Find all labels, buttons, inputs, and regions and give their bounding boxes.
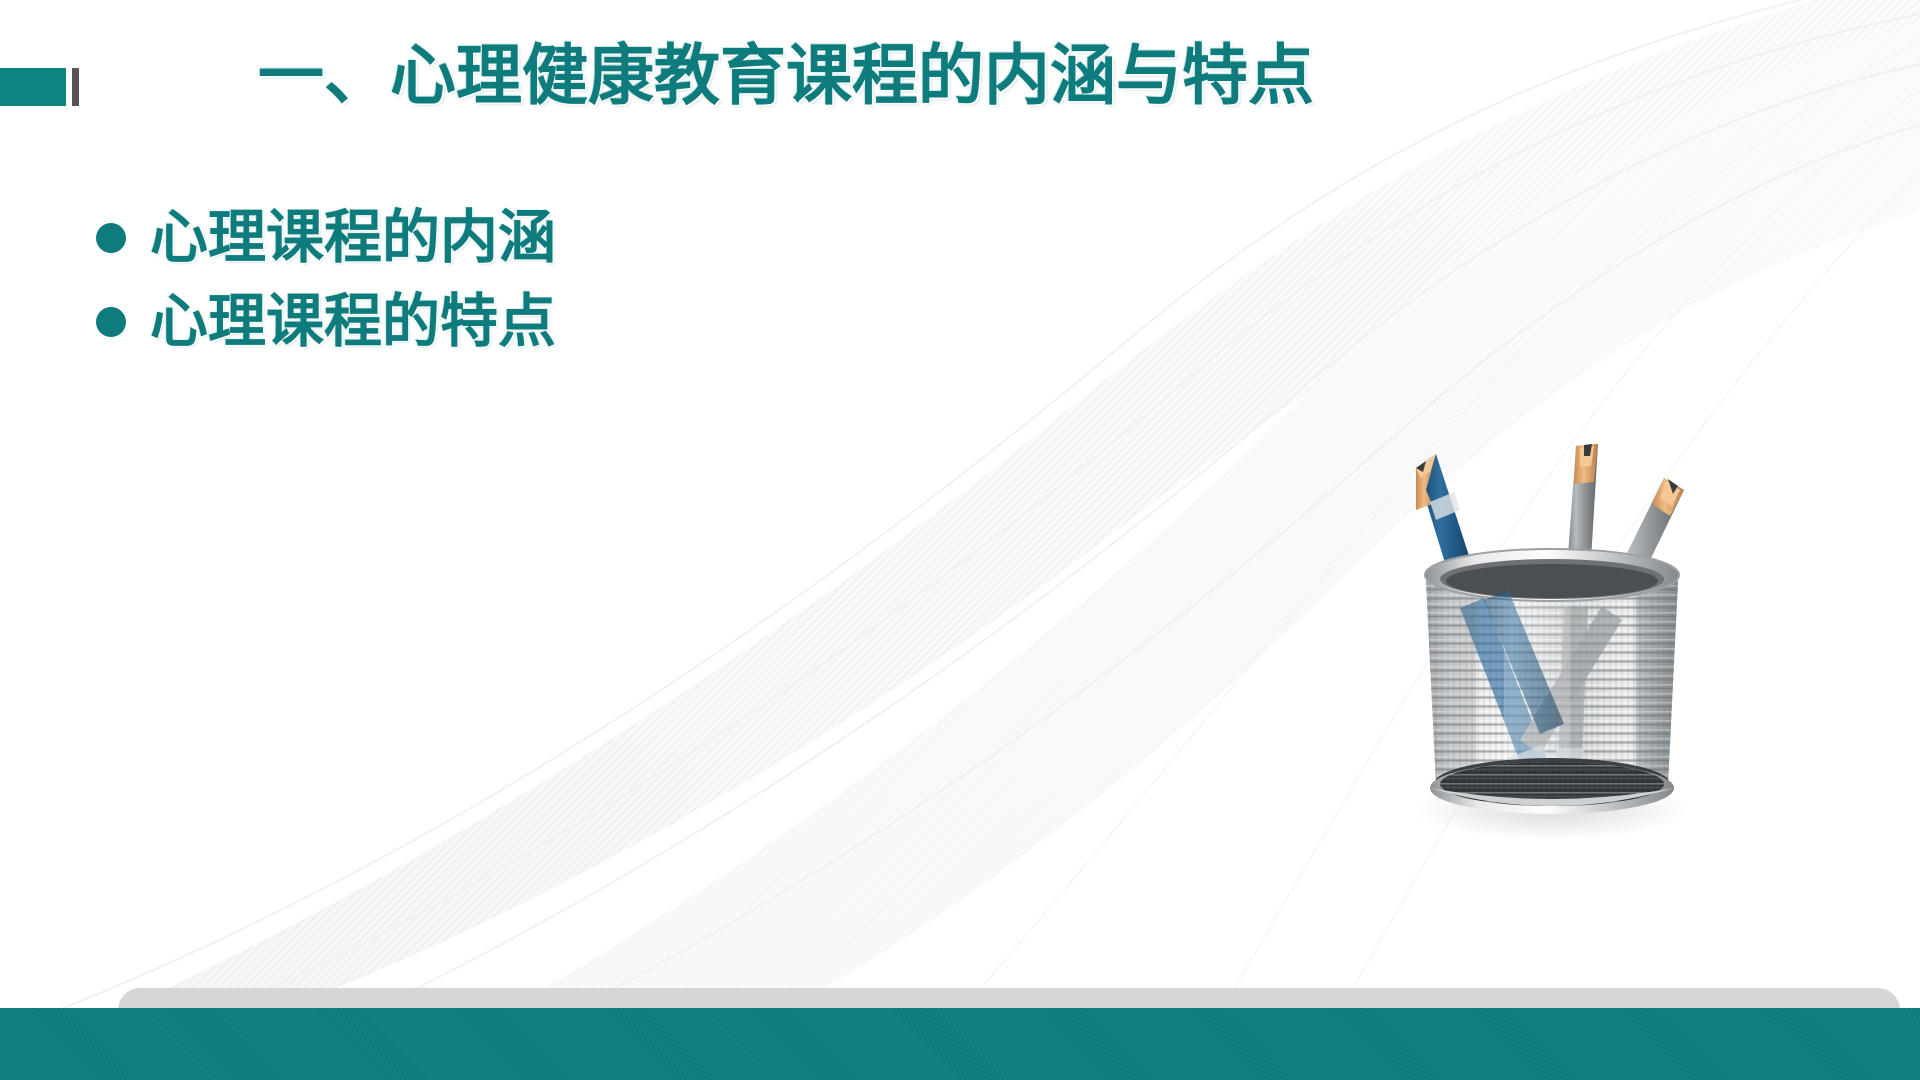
page-title: 一、心理健康教育课程的内涵与特点 [258,40,1314,111]
footer-teal-band [0,1008,1920,1080]
slide-canvas: 一、心理健康教育课程的内涵与特点 心理课程的内涵 心理课程的特点 [0,0,1920,1080]
bullet-dot-icon [96,223,126,253]
bullet-dot-icon [96,307,126,337]
bullet-item-label: 心理课程的内涵 [150,209,556,267]
list-item: 心理课程的内涵 [96,196,556,280]
pencil-cup-image [1392,432,1712,852]
gray-bar-icon [72,68,79,106]
bullet-item-label: 心理课程的特点 [150,293,556,351]
bullet-list: 心理课程的内涵 心理课程的特点 [96,196,556,364]
list-item: 心理课程的特点 [96,280,556,364]
teal-block-icon [0,68,66,106]
